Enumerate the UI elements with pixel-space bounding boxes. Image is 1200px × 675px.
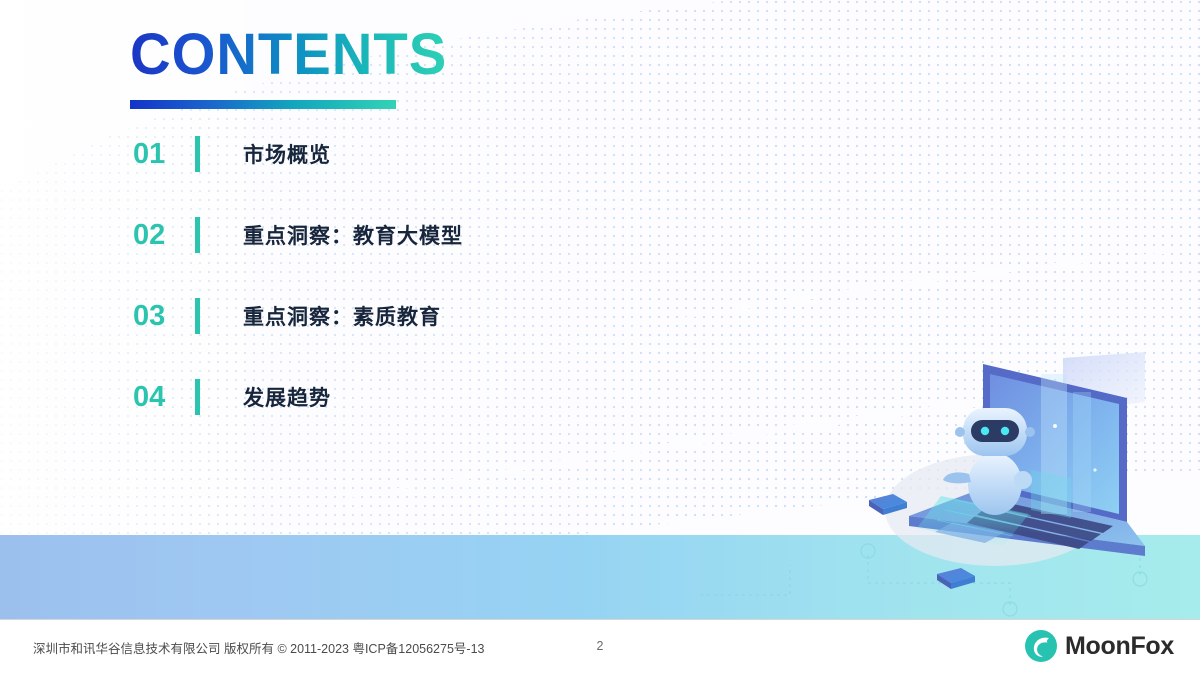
contents-item-divider bbox=[195, 298, 200, 334]
floating-tile bbox=[937, 568, 975, 589]
contents-item-number: 01 bbox=[133, 138, 195, 171]
contents-item-label: 发展趋势 bbox=[243, 382, 331, 412]
brand-name: MoonFox bbox=[1065, 632, 1174, 661]
contents-item-label: 市场概览 bbox=[243, 139, 331, 169]
contents-item-2[interactable]: 02 重点洞察：教育大模型 bbox=[133, 215, 773, 255]
contents-item-label: 重点洞察：素质教育 bbox=[243, 301, 441, 331]
page-title: CONTENTS bbox=[130, 26, 447, 84]
contents-item-label: 重点洞察：教育大模型 bbox=[243, 220, 463, 250]
contents-item-divider bbox=[195, 217, 200, 253]
contents-item-1[interactable]: 01 市场概览 bbox=[133, 134, 773, 174]
page-title-block: CONTENTS bbox=[130, 26, 457, 109]
title-underline-bar bbox=[130, 100, 396, 109]
slide-canvas: CONTENTS 01 市场概览 02 重点洞察：教育大模型 03 重点洞察：素… bbox=[0, 0, 1200, 675]
contents-item-divider bbox=[195, 379, 200, 415]
isometric-laptop-robot-illustration bbox=[845, 350, 1200, 620]
contents-item-divider bbox=[195, 136, 200, 172]
moonfox-logo-icon bbox=[1024, 629, 1058, 663]
contents-item-4[interactable]: 04 发展趋势 bbox=[133, 377, 773, 417]
contents-item-number: 03 bbox=[133, 300, 195, 333]
page-number: 2 bbox=[0, 639, 1200, 653]
contents-item-3[interactable]: 03 重点洞察：素质教育 bbox=[133, 296, 773, 336]
slide-footer: 深圳市和讯华谷信息技术有限公司 版权所有 © 2011-2023 粤ICP备12… bbox=[0, 619, 1200, 675]
brand-logo: MoonFox bbox=[1024, 629, 1174, 663]
contents-item-number: 04 bbox=[133, 381, 195, 414]
contents-item-number: 02 bbox=[133, 219, 195, 252]
contents-list: 01 市场概览 02 重点洞察：教育大模型 03 重点洞察：素质教育 04 发展… bbox=[133, 134, 773, 458]
